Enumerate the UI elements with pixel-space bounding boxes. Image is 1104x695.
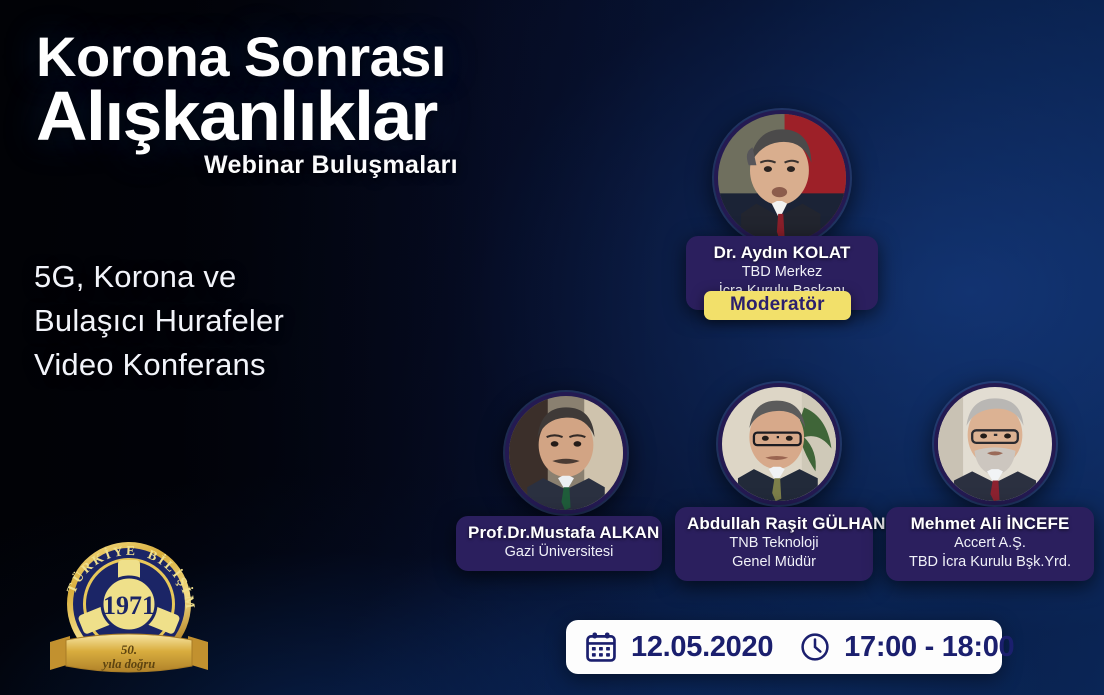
speaker-org-incefe-1: Accert A.Ş. [898,534,1082,553]
speaker-name-gulhan: Abdullah Raşit GÜLHAN [687,514,861,534]
topic-line-1: 5G, Korona ve [34,255,474,299]
logo-year: 1971 [103,591,155,620]
speaker-name-alkan: Prof.Dr.Mustafa ALKAN [468,523,650,543]
speaker-name-card-gulhan: Abdullah Raşit GÜLHAN TNB Teknoloji Gene… [675,507,873,581]
speaker-org-gulhan-1: TNB Teknoloji [687,534,861,553]
headline-block: Korona Sonrası Alışkanlıklar Webinar Bul… [36,30,556,180]
speaker-name-card-alkan: Prof.Dr.Mustafa ALKAN Gazi Üniversitesi [456,516,662,571]
speaker-name-card-incefe: Mehmet Ali İNCEFE Accert A.Ş. TBD İcra K… [886,507,1094,581]
moderator-name: Dr. Aydın KOLAT [698,243,866,263]
topic-line-2: Bulaşıcı Hurafeler [34,299,474,343]
calendar-icon [584,630,618,664]
event-datetime-bar: 12.05.2020 17:00 - 18:00 [566,620,1002,674]
speaker-portrait-incefe [934,383,1056,505]
clock-icon [799,631,831,663]
webinar-poster: Korona Sonrası Alışkanlıklar Webinar Bul… [0,0,1104,695]
topic-block: 5G, Korona ve Bulaşıcı Hurafeler Video K… [34,255,474,387]
poster-title-subtitle: Webinar Buluşmaları [204,151,556,180]
event-time: 17:00 - 18:00 [844,631,1014,664]
logo-ribbon-number: 50. [121,642,137,657]
speaker-portrait-alkan [505,392,627,514]
speaker-org-alkan: Gazi Üniversitesi [468,543,650,562]
moderator-block: Dr. Aydın KOLAT TBD Merkez İcra Kurulu B… [714,110,850,246]
speaker-name-incefe: Mehmet Ali İNCEFE [898,514,1082,534]
poster-title-line2: Alışkanlıklar [36,83,566,150]
speaker-block-alkan: Prof.Dr.Mustafa ALKAN Gazi Üniversitesi [505,392,627,514]
moderator-org-line1: TBD Merkez [698,263,866,282]
moderator-badge: Moderatör [704,291,851,320]
topic-line-3: Video Konferans [34,343,474,387]
speaker-org-gulhan-2: Genel Müdür [687,553,861,572]
tbd-logo: 1971 TÜRKİYE BİLİŞİM DERNEĞİ 50. yıla do… [44,524,214,690]
speaker-portrait-gulhan [718,383,840,505]
speaker-org-incefe-2: TBD İcra Kurulu Bşk.Yrd. [898,553,1082,572]
speaker-block-gulhan: Abdullah Raşit GÜLHAN TNB Teknoloji Gene… [718,383,840,505]
speaker-block-incefe: Mehmet Ali İNCEFE Accert A.Ş. TBD İcra K… [934,383,1056,505]
moderator-portrait [714,110,850,246]
logo-ribbon-text: yıla doğru [101,657,155,671]
event-date: 12.05.2020 [631,631,773,664]
